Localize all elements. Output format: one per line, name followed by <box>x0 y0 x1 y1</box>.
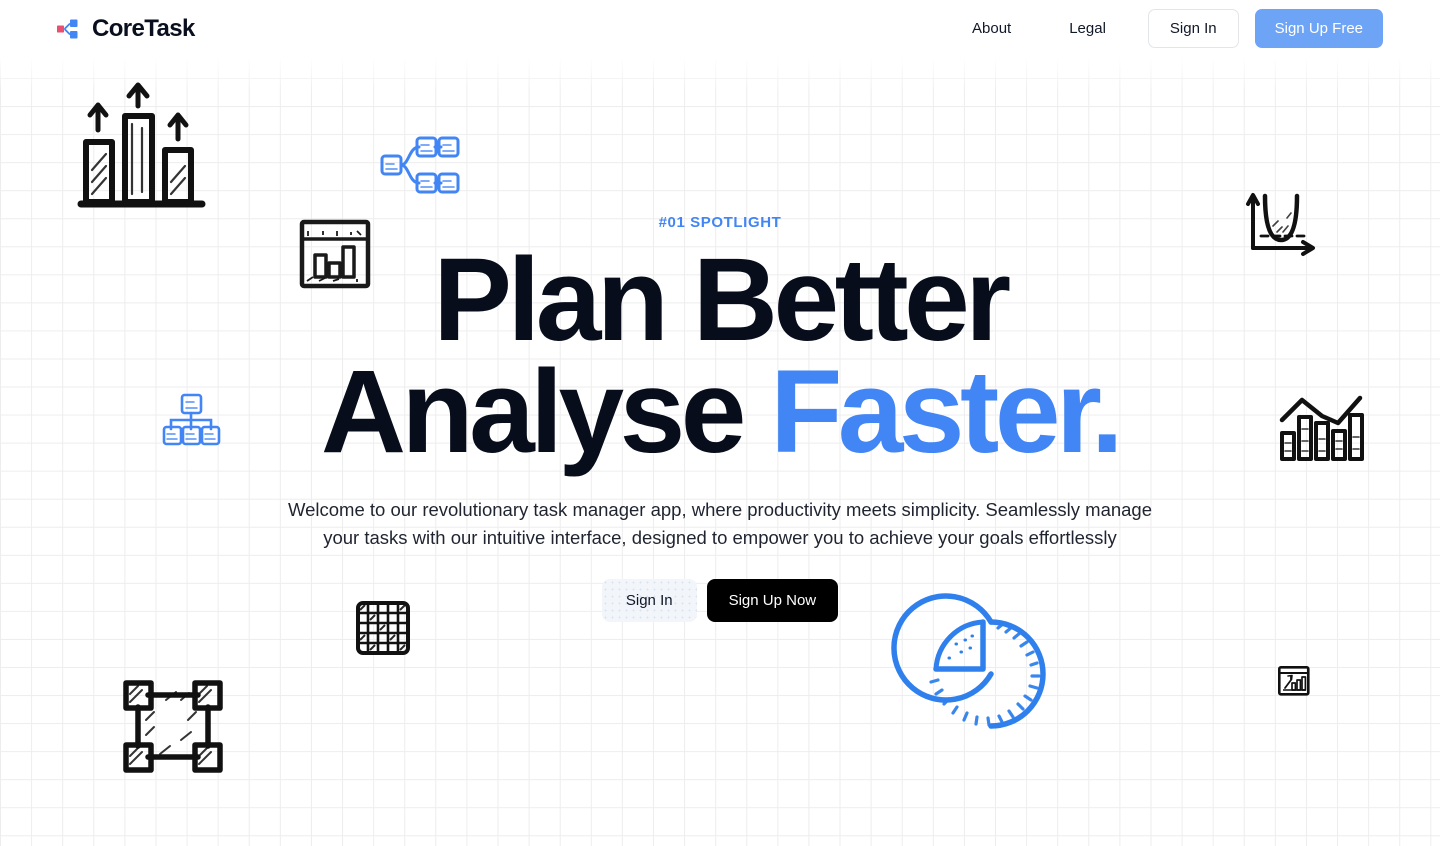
hero-subtitle: Welcome to our revolutionary task manage… <box>280 496 1160 552</box>
network-squares-icon <box>126 680 224 774</box>
mindmap-flow-icon <box>379 133 453 197</box>
org-chart-hierarchy-icon <box>164 393 220 447</box>
node-graph-icon <box>55 16 83 42</box>
brand-logo[interactable]: CoreTask <box>55 16 195 42</box>
bar-chart-arrows-icon <box>80 84 204 208</box>
hero-sign-in-button[interactable]: Sign In <box>602 579 697 622</box>
pie-chart-icon <box>925 614 1051 734</box>
hero-sign-up-now-button[interactable]: Sign Up Now <box>707 579 839 622</box>
brand-name: CoreTask <box>92 17 195 41</box>
page-title: Plan Better Analyse Faster. <box>220 244 1220 468</box>
nav-link-about[interactable]: About <box>952 11 1031 46</box>
hero-eyebrow: #01 SPOTLIGHT <box>659 214 782 231</box>
nav-link-legal[interactable]: Legal <box>1049 11 1126 46</box>
site-header: CoreTask About Legal Sign In Sign Up Fre… <box>0 0 1440 57</box>
header-sign-in-button[interactable]: Sign In <box>1148 9 1239 48</box>
hero-cta-row: Sign In Sign Up Now <box>602 579 838 622</box>
main-nav: About Legal Sign In Sign Up Free <box>952 9 1383 48</box>
headline-accent: Faster. <box>770 346 1119 478</box>
header-sign-up-free-button[interactable]: Sign Up Free <box>1255 9 1383 48</box>
landing-page: CoreTask About Legal Sign In Sign Up Fre… <box>0 0 1440 846</box>
parabola-curve-chart-icon <box>1247 192 1319 260</box>
table-grid-icon <box>356 601 410 655</box>
bar-line-combo-chart-icon <box>1280 395 1364 463</box>
growth-chart-panel-icon <box>1278 666 1310 696</box>
hero-section: #01 SPOTLIGHT Plan Better Analyse Faster… <box>0 57 1440 846</box>
